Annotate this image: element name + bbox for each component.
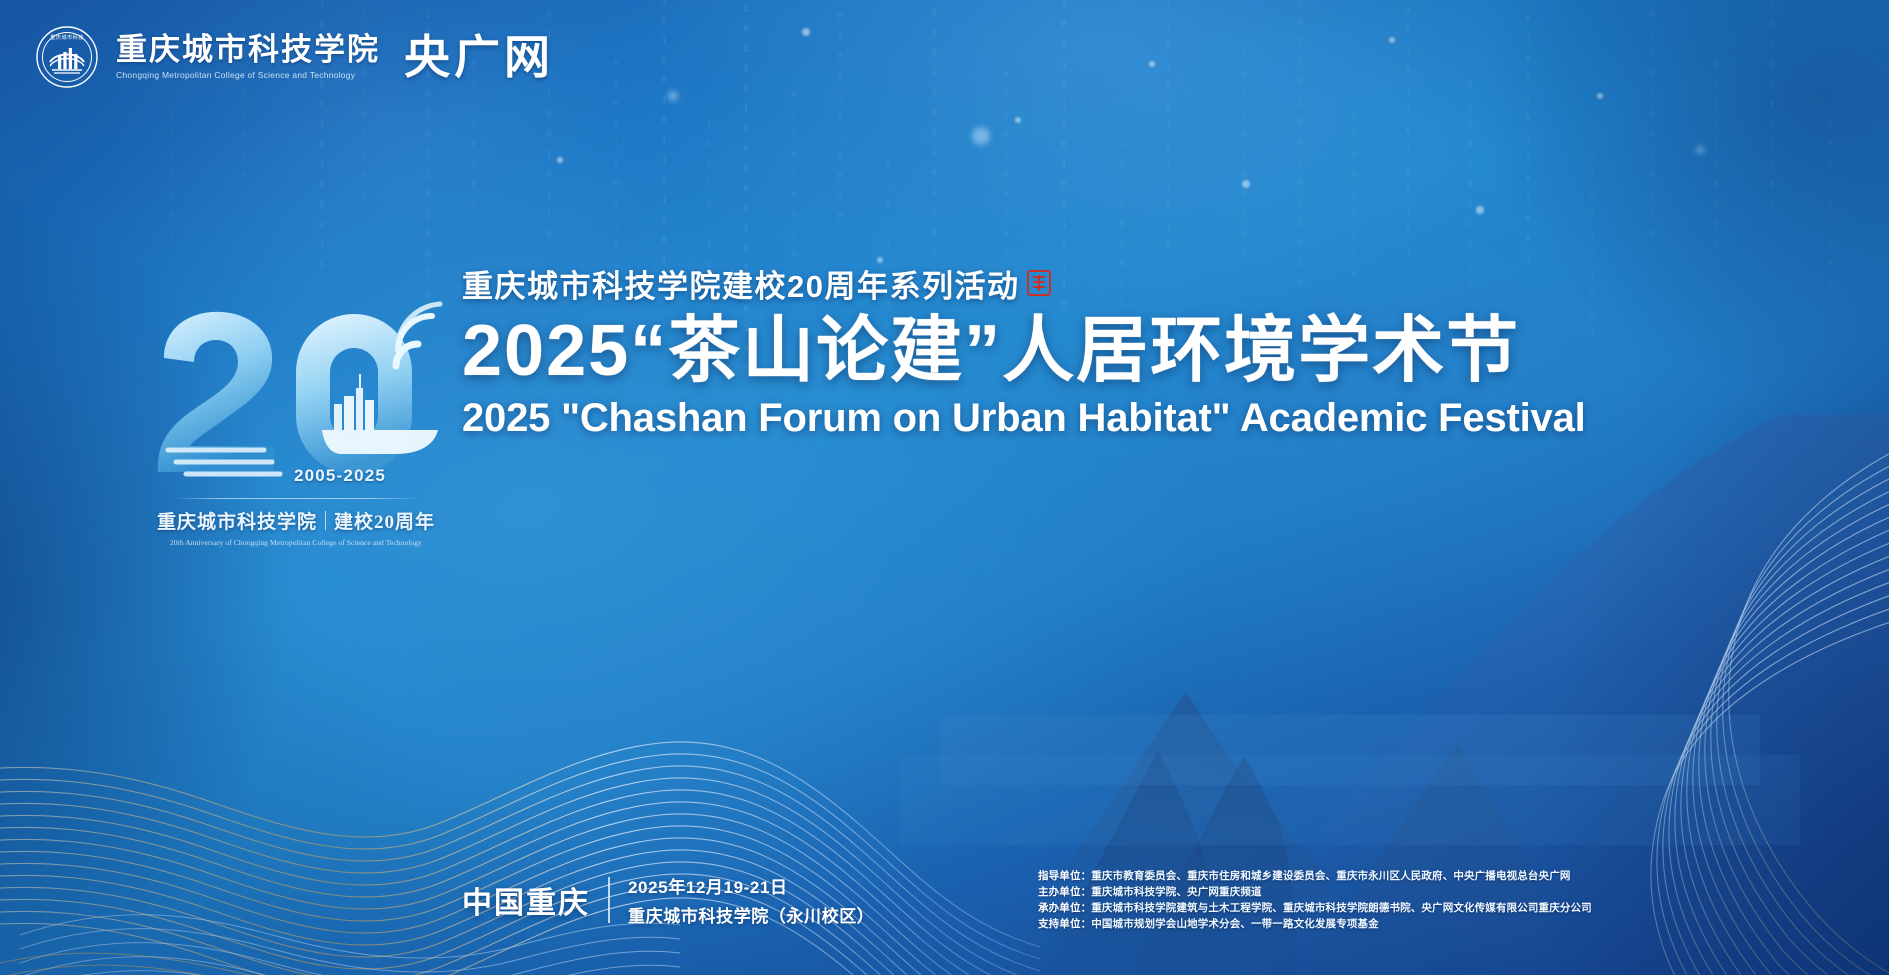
footer-venue: 重庆城市科技学院（永川校区） [628, 902, 874, 927]
organization-label: 主办单位： [1038, 886, 1091, 898]
footer-date: 2025年12月19-21日 [628, 873, 874, 898]
anniversary-caption-en: 20th Anniversary of Chongqing Metropolit… [146, 538, 446, 547]
binary-rain-column: 1 0 1 1 0 1 0 0 1 0 [1826, 120, 1835, 290]
light-particle [668, 91, 678, 101]
event-eyebrow-text: 重庆城市科技学院建校20周年系列活动 [462, 268, 1019, 305]
binary-rain-column: 0 1 1 0 1 0 0 1 0 1 1 0 1 0 0 1 [1164, 0, 1173, 252]
organization-label: 指导单位： [1038, 870, 1091, 882]
footer-organizations: 指导单位：重庆市教育委员会、重庆市住房和城乡建设委员会、重庆市永川区人民政府、中… [1038, 870, 1592, 931]
anniversary-milestone-cn: 建校20周年 [334, 507, 435, 534]
page-subtitle-en: 2025 "Chashan Forum on Urban Habitat" Ac… [462, 395, 1522, 441]
school-wordmark: 重庆城市科技学院 Chongqing Metropolitan College … [116, 34, 380, 80]
binary-rain-column: 1 1 0 1 0 0 1 0 1 1 0 1 0 [836, 0, 845, 222]
binary-rain-column: 0 1 1 0 1 0 0 1 0 1 1 0 [1466, 80, 1475, 300]
binary-rain-column: 0 1 1 0 1 0 0 1 0 1 1 0 1 0 [1002, 70, 1011, 300]
organization-value: 重庆城市科技学院、央广网重庆频道 [1091, 886, 1261, 898]
light-particle [972, 127, 990, 145]
light-particle [1015, 117, 1021, 123]
anniversary-20-mark [146, 300, 446, 490]
binary-rain-column: 1 1 0 1 0 0 1 0 [168, 110, 177, 250]
binary-rain-column: 0 1 1 0 1 0 0 1 0 1 1 [1712, 60, 1721, 260]
organization-line: 主办单位：重庆城市科技学院、央广网重庆频道 [1038, 886, 1592, 899]
organization-line: 指导单位：重庆市教育委员会、重庆市住房和城乡建设委员会、重庆市永川区人民政府、中… [1038, 870, 1592, 883]
organization-label: 支持单位： [1038, 918, 1091, 930]
school-name-cn: 重庆城市科技学院 [116, 34, 380, 67]
organization-line: 支持单位：中国城市规划学会山地学术分会、一带一路文化发展专项基金 [1038, 918, 1592, 931]
binary-rain-column: 0 1 1 0 1 0 0 1 0 1 1 [790, 90, 799, 290]
footer-city: 中国重庆 [462, 878, 590, 922]
organization-value: 中国城市规划学会山地学术分会、一带一路文化发展专项基金 [1091, 918, 1379, 930]
organization-value: 重庆市教育委员会、重庆市住房和城乡建设委员会、重庆市永川区人民政府、中央广播电视… [1091, 870, 1570, 882]
organization-line: 承办单位：重庆城市科技学院建筑与土木工程学院、重庆城市科技学院朗德书院、央广网文… [1038, 902, 1592, 915]
binary-rain-column: 1 1 0 0 1 0 1 1 0 1 [1350, 110, 1359, 290]
light-particle [802, 28, 810, 36]
anniversary-pipe-divider [325, 511, 326, 530]
organization-label: 承办单位： [1038, 902, 1091, 914]
red-seal-icon [1027, 270, 1051, 296]
binary-rain-column: 0 1 0 1 1 0 1 0 0 1 0 1 1 0 1 0 0 [1296, 0, 1305, 298]
anniversary-school-cn: 重庆城市科技学院 [157, 507, 317, 534]
header-logo-bar: 重庆城市科技 重庆城市科技学院 Chongqing Metropolitan C… [36, 26, 554, 88]
binary-rain-column: 1 0 1 1 0 1 0 0 1 0 1 1 [1240, 50, 1249, 260]
binary-rain-column: 1 0 0 1 0 1 1 0 1 0 [705, 120, 714, 290]
footer-bar: 中国重庆 2025年12月19-21日 重庆城市科技学院（永川校区） 指导单位：… [0, 835, 1889, 975]
binary-rain-column: 1 1 0 1 0 0 1 0 1 1 0 1 0 0 1 0 1 1 [660, 0, 669, 286]
cnr-partner-logo: 央广网 [404, 34, 554, 80]
binary-rain-column: 1 1 0 1 0 0 1 0 1 1 0 1 0 0 1 [1768, 0, 1777, 220]
light-particle [1149, 61, 1155, 67]
binary-rain-column: 1 0 0 1 0 1 1 0 1 0 0 1 0 1 1 0 1 [1404, 0, 1413, 266]
footer-date-venue: 2025年12月19-21日 重庆城市科技学院（永川校区） [628, 873, 874, 927]
binary-rain-column: 1 0 1 1 0 1 0 0 1 0 1 1 0 1 [1648, 0, 1657, 250]
svg-text:重庆城市科技: 重庆城市科技 [50, 33, 84, 41]
title-block: 重庆城市科技学院建校20周年系列活动 2025“茶山论建”人居环境学术节 202… [462, 268, 1522, 441]
anniversary-divider-rule [173, 498, 419, 499]
light-particle [557, 157, 563, 163]
binary-rain-column: 1 1 0 1 0 0 1 0 1 1 0 1 0 0 1 0 1 1 0 [1524, 0, 1533, 274]
school-name-en: Chongqing Metropolitan College of Scienc… [116, 70, 380, 80]
organization-value: 重庆城市科技学院建筑与土木工程学院、重庆城市科技学院朗德书院、央广网文化传媒有限… [1091, 902, 1592, 914]
binary-rain-column: 0 1 0 1 1 0 0 1 1 0 1 0 1 [612, 60, 621, 280]
university-crest-icon: 重庆城市科技 [36, 26, 98, 88]
light-particle [1242, 180, 1250, 188]
anniversary-caption-cn: 重庆城市科技学院 建校20周年 [146, 507, 446, 534]
light-particle [1476, 206, 1484, 214]
light-particle [1597, 93, 1603, 99]
binary-rain-column: 1 0 1 0 1 1 0 0 1 0 1 1 0 1 0 0 [930, 0, 939, 278]
light-particle [1389, 37, 1395, 43]
binary-rain-column: 1 1 0 0 1 0 1 1 0 1 0 0 1 0 1 1 0 1 [1060, 0, 1069, 310]
anniversary-emblem: 2005-2025 重庆城市科技学院 建校20周年 20th Anniversa… [146, 300, 446, 547]
footer-divider [608, 877, 610, 923]
light-particle [1696, 146, 1704, 154]
poster-canvas: 0 1 0 0 1 0 1 1 0 1 0 0 1 1 1 0 0 1 0 11… [0, 0, 1889, 975]
binary-rain-column: 0 1 0 1 1 0 1 0 0 1 [1588, 150, 1597, 340]
eyebrow-row: 重庆城市科技学院建校20周年系列活动 [462, 268, 1522, 305]
light-particle [877, 257, 883, 263]
page-title: 2025“茶山论建”人居环境学术节 [462, 313, 1522, 391]
footer-location-block: 中国重庆 2025年12月19-21日 重庆城市科技学院（永川校区） [462, 873, 874, 927]
